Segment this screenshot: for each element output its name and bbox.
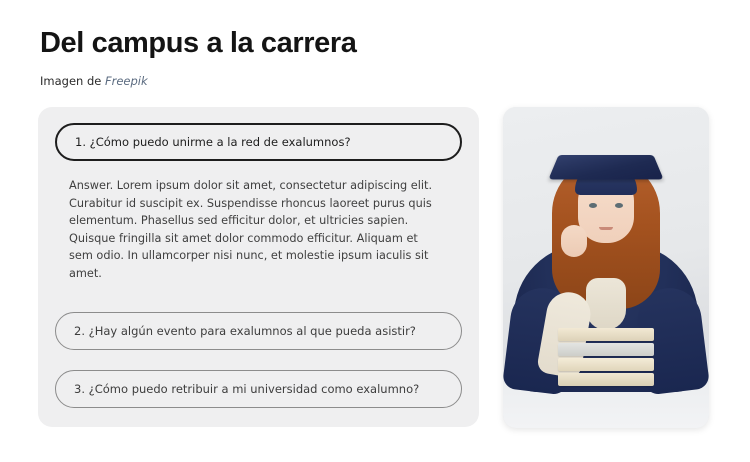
faq-list: 1. ¿Cómo puedo unirme a la red de exalum…	[55, 123, 462, 408]
book-2	[558, 343, 654, 356]
faq-item-2: 2. ¿Hay algún evento para exalumnos al q…	[55, 312, 462, 350]
credit-prefix: Imagen de	[40, 74, 105, 88]
mouth	[599, 227, 613, 230]
credit-link-freepik[interactable]: Freepik	[105, 74, 148, 88]
faq-item-1: 1. ¿Cómo puedo unirme a la red de exalum…	[55, 123, 462, 282]
page-root: Del campus a la carrera Imagen de Freepi…	[0, 0, 750, 462]
graduate-student-photo	[503, 107, 709, 428]
graduate-image-card	[503, 107, 709, 428]
page-header: Del campus a la carrera Imagen de Freepi…	[40, 26, 640, 88]
book-stack	[558, 328, 654, 388]
faq-item-3: 3. ¿Cómo puedo retribuir a mi universida…	[55, 370, 462, 408]
shirt-collar	[586, 278, 626, 330]
book-3	[558, 358, 654, 371]
faq-question-2[interactable]: 2. ¿Hay algún evento para exalumnos al q…	[55, 312, 462, 350]
book-4	[558, 373, 654, 386]
page-title: Del campus a la carrera	[40, 26, 640, 60]
hand	[561, 225, 587, 257]
faq-spacer-1	[55, 282, 462, 312]
eye-right	[615, 203, 623, 208]
faq-panel: 1. ¿Cómo puedo unirme a la red de exalum…	[38, 107, 479, 427]
image-credit: Imagen de Freepik	[40, 60, 640, 88]
eye-left	[589, 203, 597, 208]
mortarboard-icon	[548, 155, 663, 180]
faq-spacer-2	[55, 350, 462, 370]
faq-question-1[interactable]: 1. ¿Cómo puedo unirme a la red de exalum…	[55, 123, 462, 161]
faq-question-3[interactable]: 3. ¿Cómo puedo retribuir a mi universida…	[55, 370, 462, 408]
faq-answer-1: Answer. Lorem ipsum dolor sit amet, cons…	[55, 161, 455, 282]
book-1	[558, 328, 654, 341]
